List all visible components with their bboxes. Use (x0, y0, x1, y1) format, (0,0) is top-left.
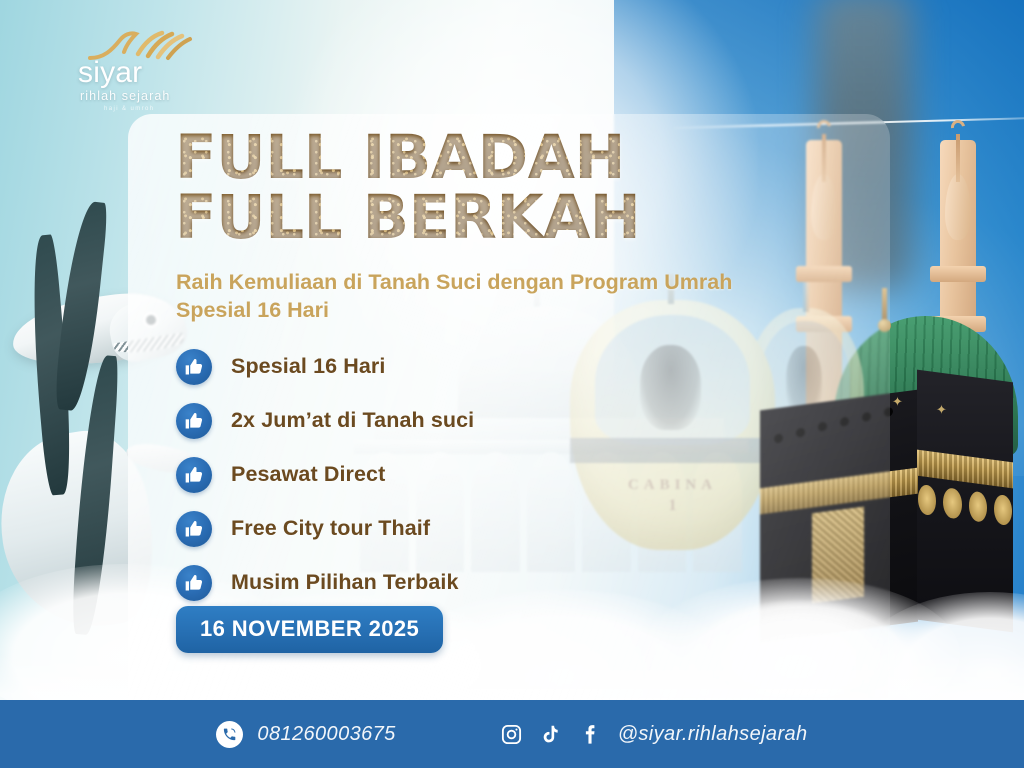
subtitle: Raih Kemuliaan di Tanah Suci dengan Prog… (176, 268, 776, 325)
tiktok-icon[interactable] (540, 723, 561, 746)
minaret-needle (956, 134, 960, 182)
social-group[interactable]: @siyar.rihlahsejarah (500, 723, 808, 746)
thumbs-up-icon (176, 349, 212, 385)
phone-group[interactable]: 081260003675 (216, 721, 395, 748)
kaaba-star-ornament: ✦ (936, 402, 947, 418)
kaaba-star-ornament: ✦ (892, 394, 903, 410)
headline-line-1: FULL IBADAH (175, 128, 815, 188)
headline: FULL IBADAH FULL BERKAH (175, 128, 815, 249)
date-badge[interactable]: 16 NOVEMBER 2025 (176, 606, 443, 653)
phone-number: 081260003675 (257, 723, 395, 746)
feature-label: 2x Jum’at di Tanah suci (231, 408, 474, 433)
instagram-icon[interactable] (500, 723, 523, 746)
social-icon-list (500, 723, 600, 746)
thumbs-up-icon (176, 403, 212, 439)
thumbs-up-icon (176, 565, 212, 601)
feature-item: Pesawat Direct (176, 448, 696, 501)
feature-label: Free City tour Thaif (231, 516, 430, 541)
kaaba-medallion (994, 494, 1012, 526)
phone-call-icon (216, 721, 243, 748)
feature-label: Pesawat Direct (231, 462, 385, 487)
minaret-balcony (930, 266, 986, 282)
social-handle: @siyar.rihlahsejarah (618, 723, 808, 746)
promo-poster: CABINA 1 ✦ ✦ (0, 0, 1024, 768)
feature-item: Musim Pilihan Terbaik (176, 556, 696, 609)
kaaba-medallion (943, 487, 961, 519)
logo-subtagline: haji & umroh (104, 106, 154, 112)
logo-name: siyar (78, 58, 142, 88)
thumbs-up-icon (176, 457, 212, 493)
feature-label: Musim Pilihan Terbaik (231, 570, 459, 595)
footer-bar: 081260003675 (0, 700, 1024, 768)
kaaba-medallion (918, 484, 936, 516)
feature-item: Free City tour Thaif (176, 502, 696, 555)
feature-list: Spesial 16 Hari 2x Jum’at di Tanah suci … (176, 340, 696, 610)
thumbs-up-icon (176, 511, 212, 547)
feature-item: 2x Jum’at di Tanah suci (176, 394, 696, 447)
facebook-icon[interactable] (578, 723, 600, 746)
brand-logo[interactable]: siyar rihlah sejarah haji & umroh (62, 28, 212, 108)
logo-tagline: rihlah sejarah (80, 90, 170, 103)
feature-label: Spesial 16 Hari (231, 354, 385, 379)
minaret-top (945, 174, 971, 240)
feature-item: Spesial 16 Hari (176, 340, 696, 393)
kaaba-medallion (969, 490, 987, 522)
headline-line-2: FULL BERKAH (175, 188, 815, 248)
